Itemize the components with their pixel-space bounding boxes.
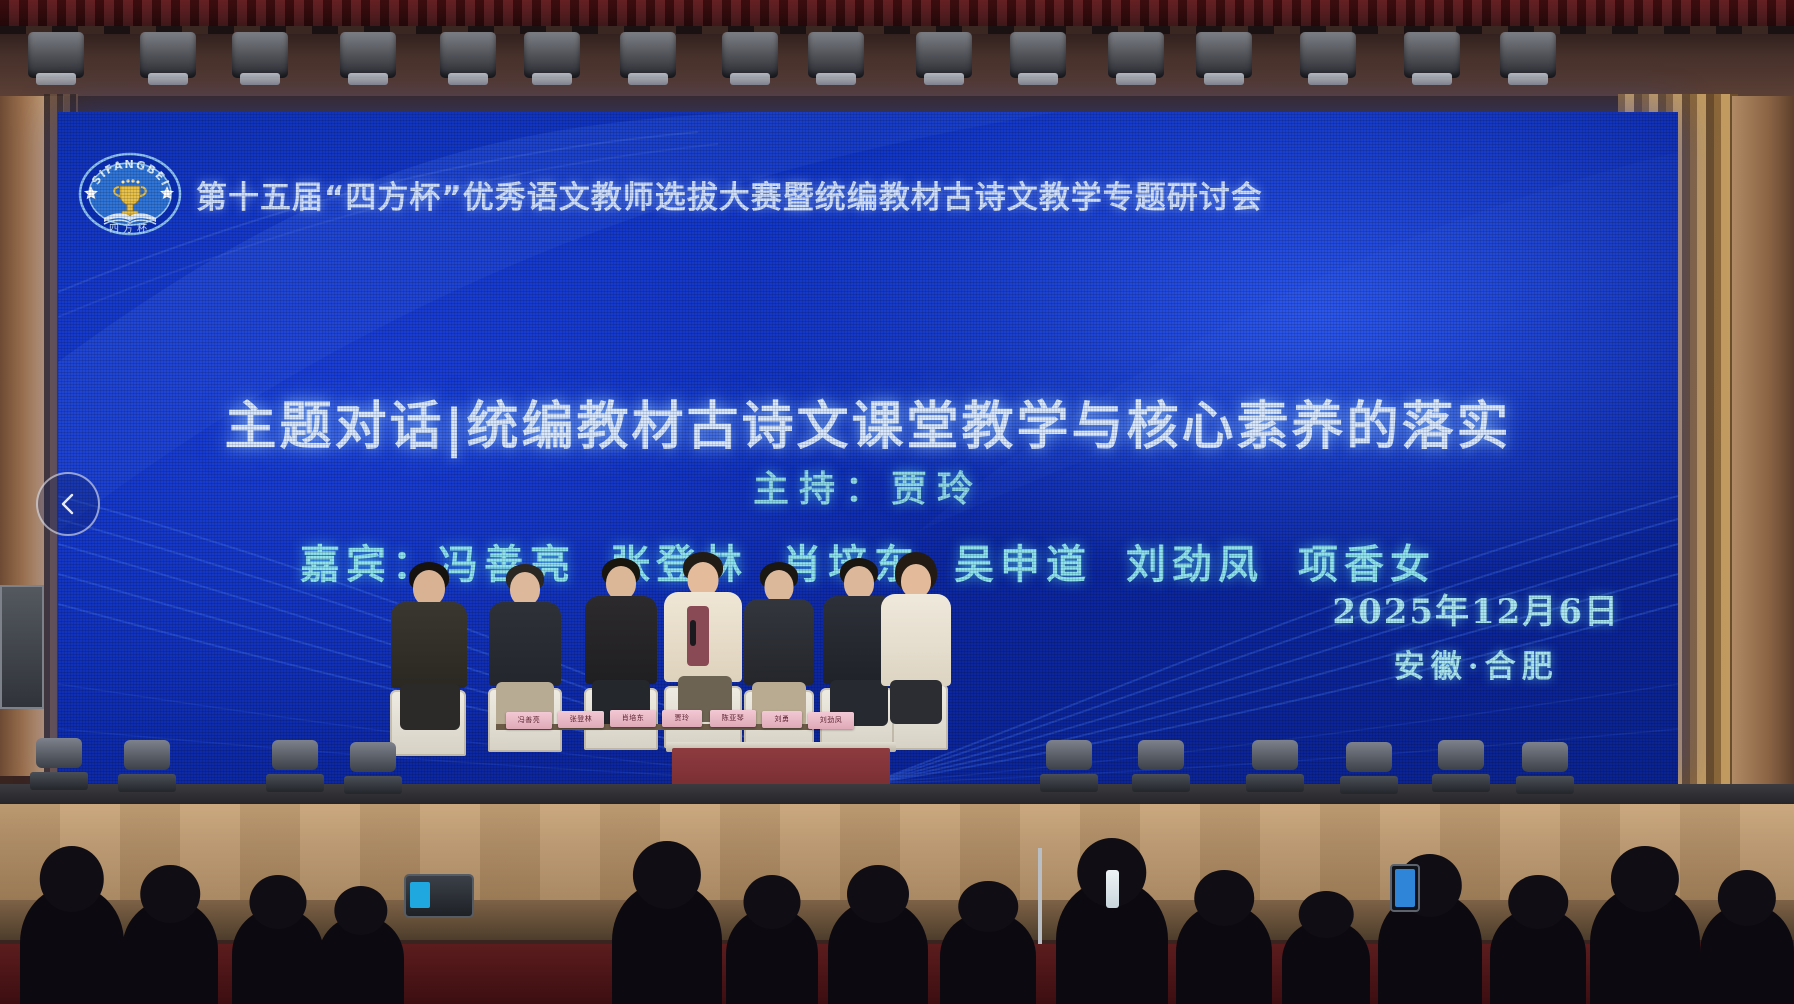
photo-viewer: SIFANGBEI (0, 0, 1794, 1004)
guest-name: 冯善亮 (438, 541, 576, 588)
stage-lamp (1500, 32, 1556, 78)
stage-lamp (140, 32, 196, 78)
audience-head (1590, 886, 1700, 1004)
guest-name: 项香女 (1298, 541, 1436, 588)
previous-slide-button[interactable] (36, 472, 100, 536)
guest-label: 嘉宾： (300, 541, 438, 588)
moving-head-light (1040, 740, 1098, 792)
water-bottle (1106, 870, 1119, 908)
stage-lamp (620, 32, 676, 78)
moving-head-light (118, 740, 176, 792)
conference-header-title: 第十五届“四方杯”优秀语文教师选拔大赛暨统编教材古诗文教学专题研讨会 (196, 172, 1263, 217)
mic-stand (1038, 848, 1042, 944)
side-monitor (0, 585, 44, 709)
auditorium-background: SIFANGBEI (0, 0, 1794, 1004)
stage-lamp (28, 32, 84, 78)
stage-lamp (524, 32, 580, 78)
stage-lamp (1196, 32, 1252, 78)
moving-head-light (1246, 740, 1304, 792)
guest-name: 肖培东 (782, 541, 920, 588)
host-name: 贾玲 (891, 468, 983, 510)
chevron-left-icon (55, 491, 81, 517)
audience-head (612, 882, 722, 1004)
audience (0, 852, 1794, 1004)
led-screen: SIFANGBEI (58, 112, 1678, 784)
audience-head (726, 908, 818, 1004)
moving-head-light (1432, 740, 1490, 792)
camera-device (404, 874, 474, 918)
stage-lamp (722, 32, 778, 78)
guest-line: 嘉宾：冯善亮张登林肖培东吴申道刘劲凤项香女 (58, 532, 1678, 590)
stage-lamp (1404, 32, 1460, 78)
moving-head-light (1132, 740, 1190, 792)
audience-head (828, 900, 928, 1004)
guest-name: 张登林 (610, 541, 748, 588)
main-title-part1: 主题对话 (224, 397, 444, 457)
main-title-part2: 统编教材古诗文课堂教学与核心素养的落实 (467, 397, 1512, 457)
moving-head-light (1340, 742, 1398, 794)
stage-lamp (808, 32, 864, 78)
event-date: 2025年12月6日 (1332, 584, 1620, 633)
sifangbei-logo: SIFANGBEI (78, 152, 182, 236)
stage-lamp (1300, 32, 1356, 78)
logo-bottom-text: 四方杯 (109, 222, 151, 235)
moving-head-light (266, 740, 324, 792)
audience-head (232, 908, 324, 1004)
guest-name: 吴申道 (954, 541, 1092, 588)
stage-lamp (440, 32, 496, 78)
moving-head-light (1516, 742, 1574, 794)
audience-head (940, 912, 1036, 1004)
stage-lamp (1010, 32, 1066, 78)
audience-head (1700, 904, 1794, 1004)
screen-content: SIFANGBEI (58, 112, 1678, 784)
audience-head (1282, 920, 1370, 1004)
audience-head (122, 900, 218, 1004)
audience-head (318, 916, 404, 1004)
moving-head-light (344, 742, 402, 794)
audience-head (1490, 908, 1586, 1004)
main-title: 主题对话|统编教材古诗文课堂教学与核心素养的落实 (58, 384, 1678, 459)
main-title-divider: | (445, 399, 467, 459)
logo-graphic: SIFANGBEI (78, 152, 182, 236)
stage-lamp (232, 32, 288, 78)
phone-device (1390, 864, 1420, 912)
guest-name: 刘劲凤 (1126, 541, 1264, 588)
screen-header: SIFANGBEI (78, 152, 1263, 236)
stage-lamp (1108, 32, 1164, 78)
audience-head (1176, 904, 1272, 1004)
host-label: 主持： (753, 468, 891, 510)
event-location: 安徽·合肥 (1332, 641, 1620, 686)
stage-lamp (340, 32, 396, 78)
host-line: 主持：贾玲 (58, 460, 1678, 512)
moving-head-light (30, 738, 88, 790)
event-date-location: 2025年12月6日 安徽·合肥 (1332, 584, 1620, 686)
audience-head (20, 886, 124, 1004)
right-wall (1732, 96, 1794, 796)
stage-lamp (916, 32, 972, 78)
